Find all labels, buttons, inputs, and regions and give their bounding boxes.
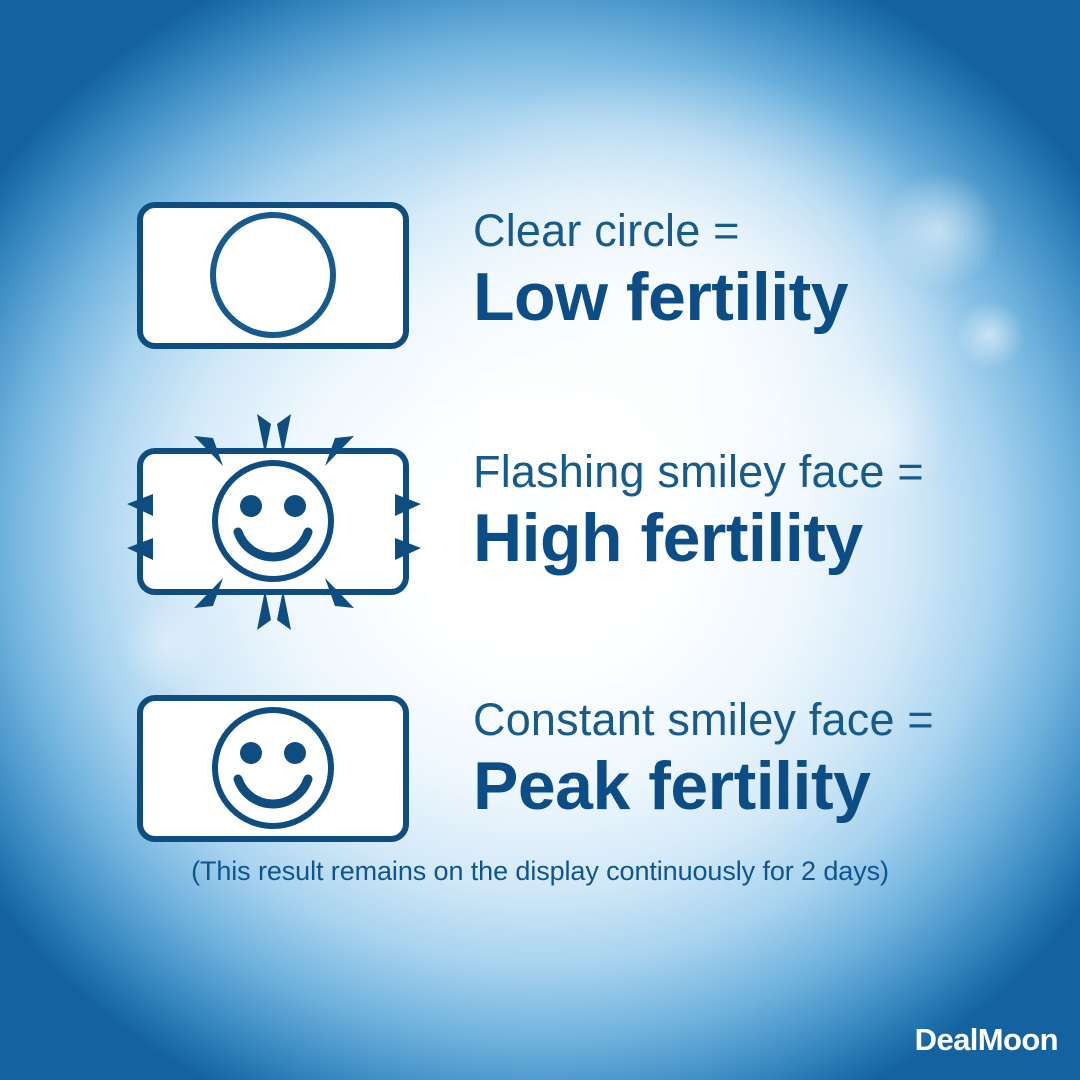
dealmoon-watermark: DealMoon <box>915 1022 1058 1058</box>
legend-headline: Peak fertility <box>473 748 1033 824</box>
legend-caption: Flashing smiley face = <box>473 445 1033 498</box>
smiley-face-icon <box>143 454 403 589</box>
legend-caption: Constant smiley face = <box>473 693 1033 746</box>
legend-label-high-fertility: Flashing smiley face = High fertility <box>473 445 1033 576</box>
legend-caption: Clear circle = <box>473 204 1033 257</box>
display-card-flashing-smiley <box>137 448 409 595</box>
clear-circle-icon <box>143 208 403 343</box>
display-card-constant-smiley <box>137 695 409 842</box>
display-card-clear-circle <box>137 202 409 349</box>
smiley-face-icon <box>143 701 403 836</box>
result-legend-list: Clear circle = Low fertility <box>0 0 1080 1080</box>
infographic-canvas: Clear circle = Low fertility <box>0 0 1080 1080</box>
legend-label-peak-fertility: Constant smiley face = Peak fertility <box>473 693 1033 824</box>
legend-label-low-fertility: Clear circle = Low fertility <box>473 204 1033 335</box>
footnote-text: (This result remains on the display cont… <box>0 856 1080 887</box>
legend-headline: Low fertility <box>473 259 1033 335</box>
legend-headline: High fertility <box>473 500 1033 576</box>
